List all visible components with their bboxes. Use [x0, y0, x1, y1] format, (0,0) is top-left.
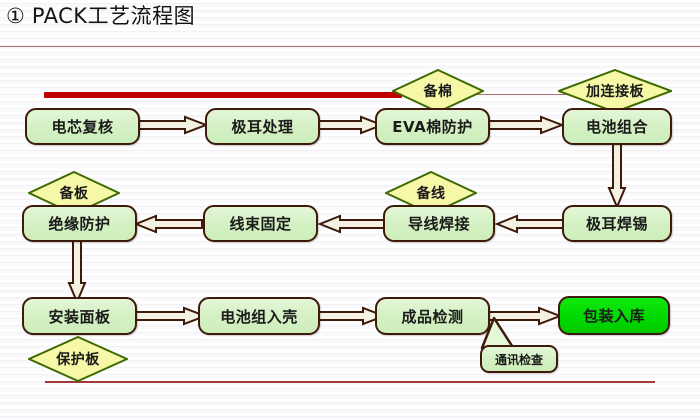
- arrow-panel-install-to-pack-into-case: [136, 307, 206, 325]
- process-node-tab-soldering[interactable]: 极耳焊锡: [562, 205, 672, 242]
- process-node-label: 导线焊接: [408, 213, 470, 234]
- bottom-accent-rule: [45, 381, 655, 383]
- process-node-label: 极耳处理: [231, 116, 293, 137]
- annotation-label: 通讯检查: [495, 351, 543, 368]
- arrow-tab-processing-to-eva-protection: [319, 116, 383, 134]
- process-node-label: 包装入库: [583, 305, 645, 326]
- annotation-comm-check[interactable]: 通讯检查: [480, 345, 558, 373]
- title-number: ①: [6, 6, 25, 27]
- process-node-label: 绝缘防护: [48, 213, 110, 234]
- process-node-eva-protection[interactable]: EVA棉防护: [375, 108, 490, 145]
- process-node-label: EVA棉防护: [392, 116, 472, 137]
- input-diamond-prepare-cotton[interactable]: 备棉: [392, 69, 484, 113]
- title-text: PACK工艺流程图: [32, 6, 195, 27]
- process-node-packaging-storage[interactable]: 包装入库: [558, 296, 670, 335]
- arrow-cell-recheck-to-tab-processing: [139, 116, 207, 134]
- process-node-battery-assembly[interactable]: 电池组合: [562, 108, 672, 145]
- process-node-label: 安装面板: [48, 306, 110, 327]
- title-underline: [0, 46, 700, 47]
- process-node-label: 线束固定: [229, 213, 291, 234]
- arrow-tab-soldering-to-wire-welding: [497, 215, 563, 233]
- process-node-label: 电池组入壳: [220, 306, 298, 327]
- process-node-harness-fix[interactable]: 线束固定: [203, 205, 318, 242]
- process-node-cell-recheck[interactable]: 电芯复核: [25, 108, 140, 145]
- arrow-harness-fix-to-insulation: [136, 215, 202, 233]
- process-node-pack-into-case[interactable]: 电池组入壳: [198, 297, 320, 335]
- input-diamond-add-connector-plate[interactable]: 加连接板: [558, 69, 672, 113]
- arrow-insulation-to-panel-install: [68, 241, 86, 303]
- process-node-panel-install[interactable]: 安装面板: [22, 297, 137, 335]
- process-node-label: 成品检测: [401, 306, 463, 327]
- arrow-wire-welding-to-harness-fix: [320, 215, 386, 233]
- process-node-tab-processing[interactable]: 极耳处理: [205, 108, 320, 145]
- input-diamond-protection-board[interactable]: 保护板: [28, 336, 128, 382]
- process-node-insulation[interactable]: 绝缘防护: [22, 205, 137, 242]
- process-node-final-inspection[interactable]: 成品检测: [375, 297, 490, 335]
- top-accent-rule: [44, 92, 402, 98]
- process-node-label: 电芯复核: [51, 116, 113, 137]
- process-node-label: 电池组合: [586, 116, 648, 137]
- page-title: ① PACK工艺流程图: [6, 6, 195, 27]
- process-node-label: 极耳焊锡: [586, 213, 648, 234]
- arrow-eva-protection-to-battery-assembly: [489, 116, 563, 134]
- arrow-battery-assembly-to-tab-soldering: [608, 144, 626, 208]
- process-node-wire-welding[interactable]: 导线焊接: [383, 205, 495, 242]
- flowchart-canvas: ① PACK工艺流程图 备棉 加连接板 备板 备线: [0, 0, 700, 420]
